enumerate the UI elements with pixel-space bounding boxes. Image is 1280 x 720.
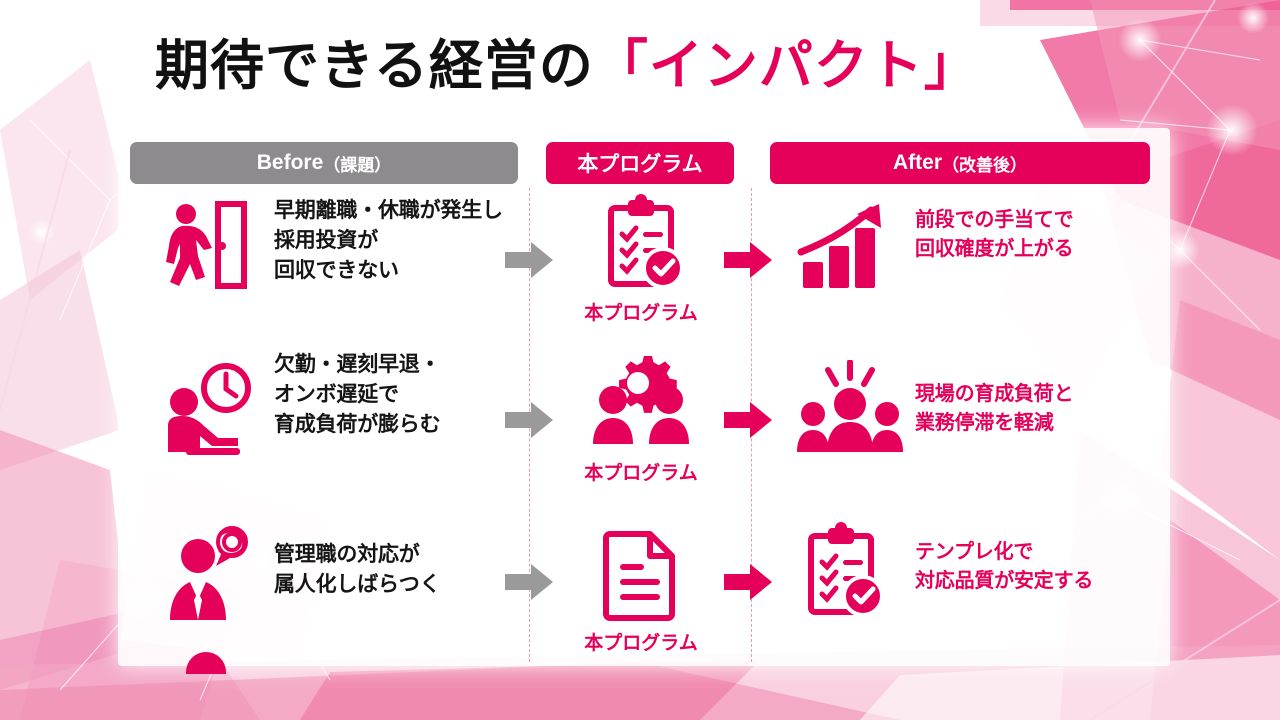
after-text-line: 現場の育成負荷と bbox=[915, 380, 1165, 409]
before-text-line: 採用投資が bbox=[274, 226, 514, 256]
title-highlight: 「インパクト」 bbox=[594, 36, 979, 96]
program-label: 本プログラム bbox=[584, 298, 697, 325]
team-gear-icon bbox=[589, 352, 693, 456]
after-text: テンプレ化で 対応品質が安定する bbox=[915, 538, 1165, 596]
column-header-after-sub: （改善後） bbox=[942, 151, 1027, 176]
clipboard-check-icon bbox=[795, 522, 895, 618]
program-cell: 本プログラム bbox=[566, 352, 716, 485]
bar-chart-growth-icon bbox=[795, 200, 895, 296]
program-label: 本プログラム bbox=[584, 628, 697, 655]
arrow-right-gray-icon bbox=[505, 400, 555, 445]
arrow-right-pink-icon bbox=[724, 400, 774, 445]
column-header-before-sub: （課題） bbox=[323, 151, 391, 176]
after-text-line: 対応品質が安定する bbox=[915, 567, 1165, 596]
person-desk-clock-icon bbox=[160, 360, 252, 460]
before-text-line: 早期離職・休職が発生し bbox=[274, 196, 514, 226]
person-exit-door-icon bbox=[160, 196, 252, 296]
before-text: 早期離職・休職が発生し 採用投資が 回収できない bbox=[274, 196, 514, 285]
after-text-line: 業務停滞を軽減 bbox=[915, 409, 1165, 438]
program-label: 本プログラム bbox=[584, 458, 697, 485]
before-text-line: オンボ遅延で bbox=[274, 380, 514, 410]
arrow-right-pink-icon bbox=[724, 562, 774, 607]
column-header-before: Before（課題） bbox=[130, 142, 518, 184]
after-text: 前段での手当てで 回収確度が上がる bbox=[915, 206, 1165, 264]
arrow-right-pink-icon bbox=[724, 240, 774, 285]
document-lines-icon bbox=[598, 522, 684, 626]
team-celebration-icon bbox=[795, 360, 895, 456]
before-text-line: 属人化しばらつく bbox=[274, 570, 514, 600]
after-text-line: 回収確度が上がる bbox=[915, 235, 1165, 264]
before-text: 管理職の対応が 属人化しばらつく bbox=[274, 540, 514, 600]
page-title: 期待できる経営の「インパクト」 bbox=[155, 38, 979, 95]
column-header-program: 本プログラム bbox=[546, 142, 734, 184]
after-text: 現場の育成負荷と 業務停滞を軽減 bbox=[915, 380, 1165, 438]
before-text-line: 育成負荷が膨らむ bbox=[274, 410, 514, 440]
program-cell: 本プログラム bbox=[566, 522, 716, 655]
before-text-line: 欠勤・遅刻早退・ bbox=[274, 350, 514, 380]
column-header-after: After（改善後） bbox=[770, 142, 1150, 184]
after-text-line: テンプレ化で bbox=[915, 538, 1165, 567]
arrow-right-gray-icon bbox=[505, 562, 555, 607]
before-text: 欠勤・遅刻早退・ オンボ遅延で 育成負荷が膨らむ bbox=[274, 350, 514, 439]
column-header-before-label: Before bbox=[257, 151, 324, 175]
program-cell: 本プログラム bbox=[566, 192, 716, 325]
before-text-line: 管理職の対応が bbox=[274, 540, 514, 570]
arrow-right-gray-icon bbox=[505, 240, 555, 285]
title-main: 期待できる経営の bbox=[155, 36, 594, 96]
after-text-line: 前段での手当てで bbox=[915, 206, 1165, 235]
before-text-line: 回収できない bbox=[274, 256, 514, 286]
column-header-after-label: After bbox=[893, 151, 942, 175]
clipboard-check-icon bbox=[595, 192, 687, 296]
businessman-confused-icon bbox=[160, 524, 252, 624]
column-header-program-label: 本プログラム bbox=[577, 148, 702, 178]
